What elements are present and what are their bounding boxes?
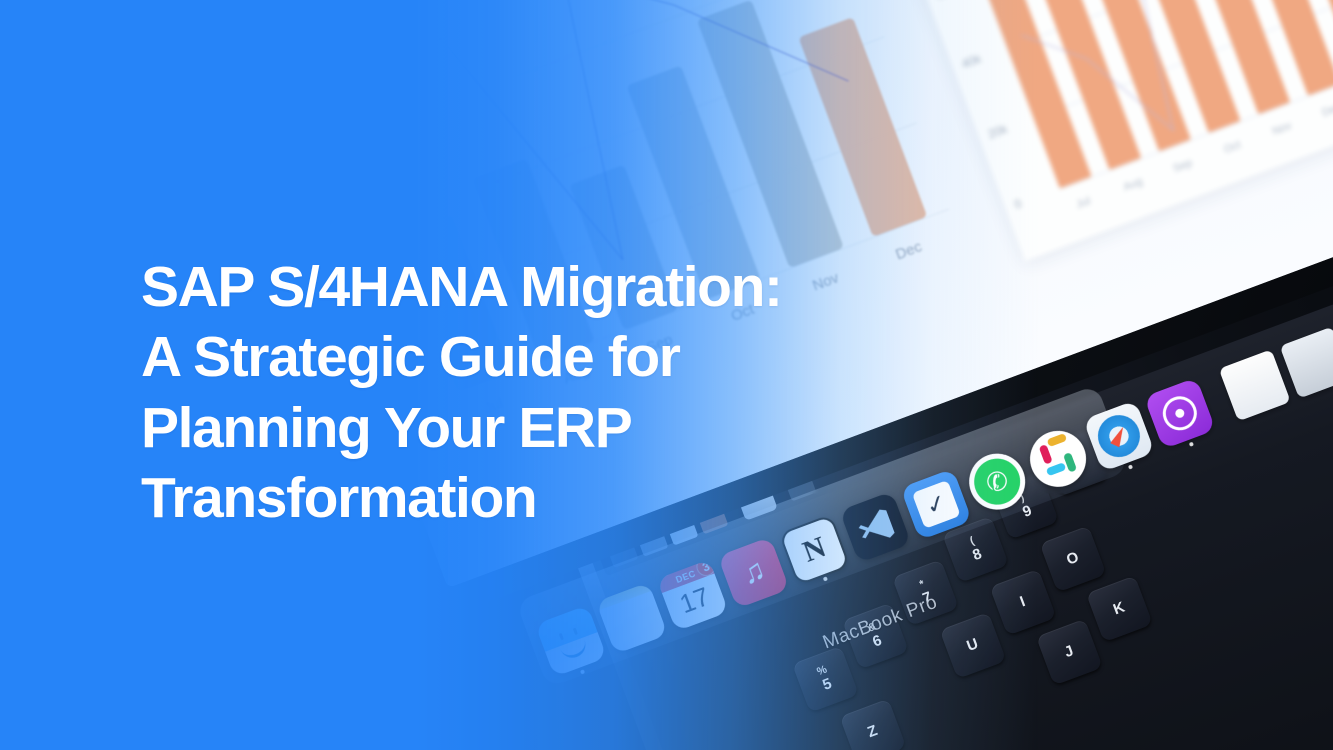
title-line-2: A Strategic Guide for bbox=[141, 322, 901, 392]
title-line-3: Planning Your ERP bbox=[141, 393, 901, 463]
title-line-4: Transformation bbox=[141, 463, 901, 533]
page-title: SAP S/4HANA Migration: A Strategic Guide… bbox=[141, 252, 901, 534]
title-line-1: SAP S/4HANA Migration: bbox=[141, 252, 901, 322]
hero-banner: %5 &6 *7 (8 )9 0 Z U I O J K 163.63K Rec… bbox=[0, 0, 1333, 750]
